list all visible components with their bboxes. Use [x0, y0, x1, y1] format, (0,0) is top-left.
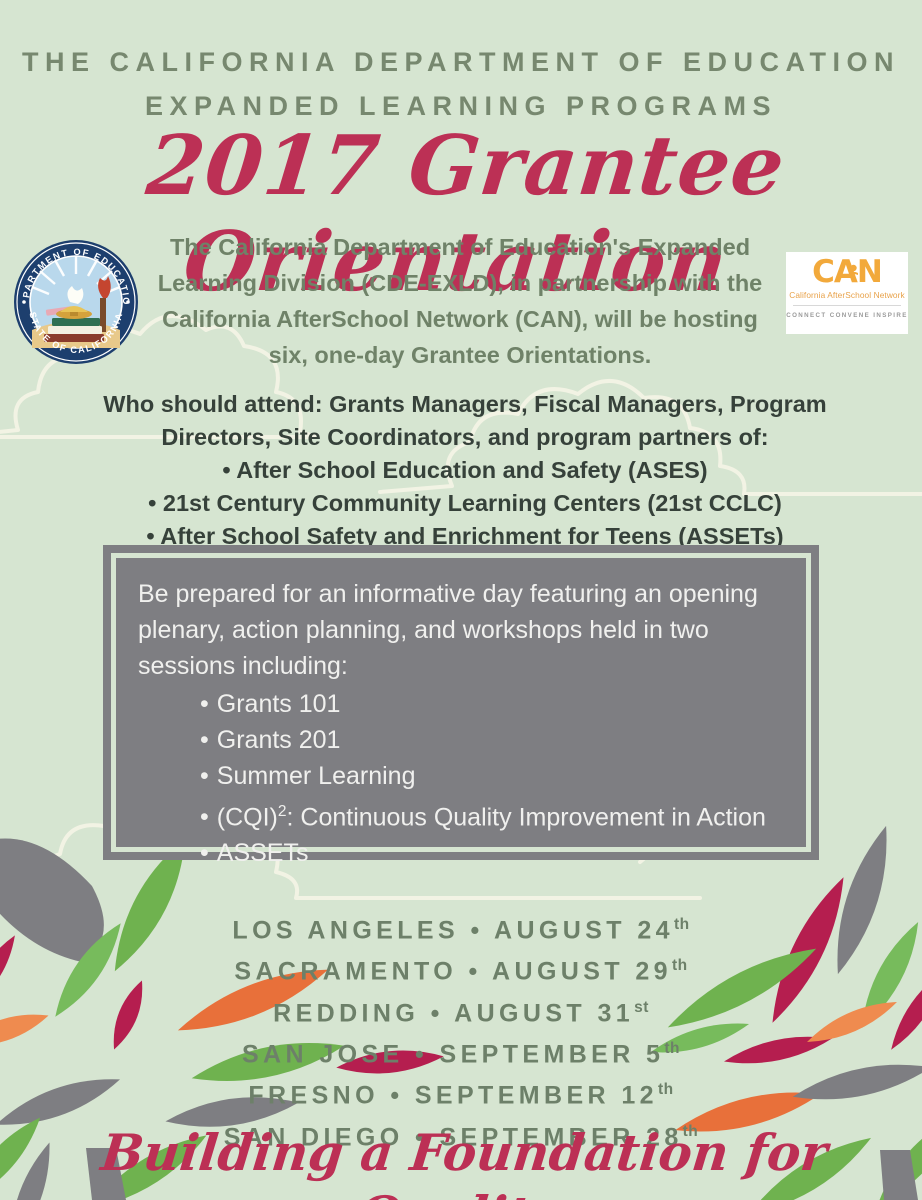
separator-dot: • [415, 1040, 428, 1068]
event-month: AUGUST [454, 999, 586, 1027]
chalkboard-inner: Be prepared for an informative day featu… [116, 558, 806, 847]
audience-section: Who should attend: Grants Managers, Fisc… [70, 388, 860, 553]
session-list: •Grants 101 •Grants 201 •Summer Learning… [138, 686, 784, 871]
audience-program-label: 21st Century Community Learning Centers … [163, 490, 782, 516]
tagline: Building a Foundation for Quality [0, 1122, 922, 1200]
can-logo: CAN California AfterSchool Network CONNE… [786, 252, 908, 334]
chalkboard-frame-gap: Be prepared for an informative day featu… [111, 553, 811, 852]
event-day-ordinal: th [672, 957, 688, 974]
event-day-ordinal: st [634, 999, 649, 1016]
event-day: 29 [635, 958, 672, 986]
list-item: • 21st Century Community Learning Center… [70, 487, 860, 520]
event-day-ordinal: th [658, 1081, 674, 1098]
session-label-tail: : Continuous Quality Improvement in Acti… [287, 803, 766, 831]
list-item: •Summer Learning [200, 758, 784, 794]
session-label: Grants 101 [217, 690, 341, 718]
event-city: FRESNO [248, 1082, 379, 1110]
event-day-ordinal: th [664, 1040, 680, 1057]
event-month: AUGUST [492, 958, 624, 986]
session-label: Grants 201 [217, 726, 341, 754]
session-label: ASSETs [217, 839, 309, 867]
event-city: SACRAMENTO [234, 958, 457, 986]
event-city: LOS ANGELES [232, 916, 459, 944]
event-city: SAN JOSE [242, 1040, 404, 1068]
audience-program-label: After School Education and Safety (ASES) [236, 457, 707, 483]
event-date-row: FRESNO • SEPTEMBER 12th [0, 1072, 922, 1113]
audience-program-list: • After School Education and Safety (ASE… [70, 454, 860, 553]
event-dates-list: LOS ANGELES • AUGUST 24th SACRAMENTO • A… [0, 907, 922, 1155]
event-day-ordinal: th [674, 916, 690, 933]
header-line-1: THE CALIFORNIA DEPARTMENT OF EDUCATION [0, 40, 922, 84]
event-city: REDDING [273, 999, 419, 1027]
event-day: 12 [621, 1082, 658, 1110]
event-date-row: LOS ANGELES • AUGUST 24th [0, 907, 922, 948]
audience-lede: Who should attend: Grants Managers, Fisc… [70, 388, 860, 454]
can-person-icon [848, 264, 859, 284]
can-tagline: CONNECT CONVENE INSPIRE [786, 312, 908, 319]
can-divider [793, 305, 901, 306]
event-date-row: SACRAMENTO • AUGUST 29th [0, 948, 922, 989]
event-month: SEPTEMBER [415, 1082, 610, 1110]
separator-dot: • [431, 999, 444, 1027]
list-item: •ASSETs [200, 835, 784, 871]
separator-dot: • [390, 1082, 403, 1110]
chalkboard-lead-text: Be prepared for an informative day featu… [138, 576, 784, 684]
session-superscript: 2 [278, 803, 287, 820]
event-day: 31 [597, 999, 634, 1027]
separator-dot: • [468, 958, 481, 986]
event-date-row: SAN JOSE • SEPTEMBER 5th [0, 1031, 922, 1072]
cde-state-seal-icon: DEPARTMENT OF EDUCATION STATE OF CALIFOR… [12, 238, 140, 366]
separator-dot: • [470, 916, 483, 944]
session-label: (CQI) [217, 803, 278, 831]
flyer-poster: THE CALIFORNIA DEPARTMENT OF EDUCATION E… [0, 0, 922, 1200]
list-item: •Grants 201 [200, 722, 784, 758]
event-day: 5 [646, 1040, 664, 1068]
event-month: AUGUST [494, 916, 626, 944]
event-day: 24 [637, 916, 674, 944]
event-date-row: REDDING • AUGUST 31st [0, 990, 922, 1031]
event-month: SEPTEMBER [440, 1040, 635, 1068]
intro-paragraph: The California Department of Education's… [150, 229, 770, 373]
list-item: •(CQI)2: Continuous Quality Improvement … [200, 794, 784, 835]
list-item: • After School Education and Safety (ASE… [70, 454, 860, 487]
chalkboard-panel: Be prepared for an informative day featu… [103, 545, 819, 860]
can-wordmark: CAN [786, 256, 908, 288]
list-item: •Grants 101 [200, 686, 784, 722]
session-label: Summer Learning [217, 762, 416, 790]
can-subtitle: California AfterSchool Network [786, 290, 908, 300]
